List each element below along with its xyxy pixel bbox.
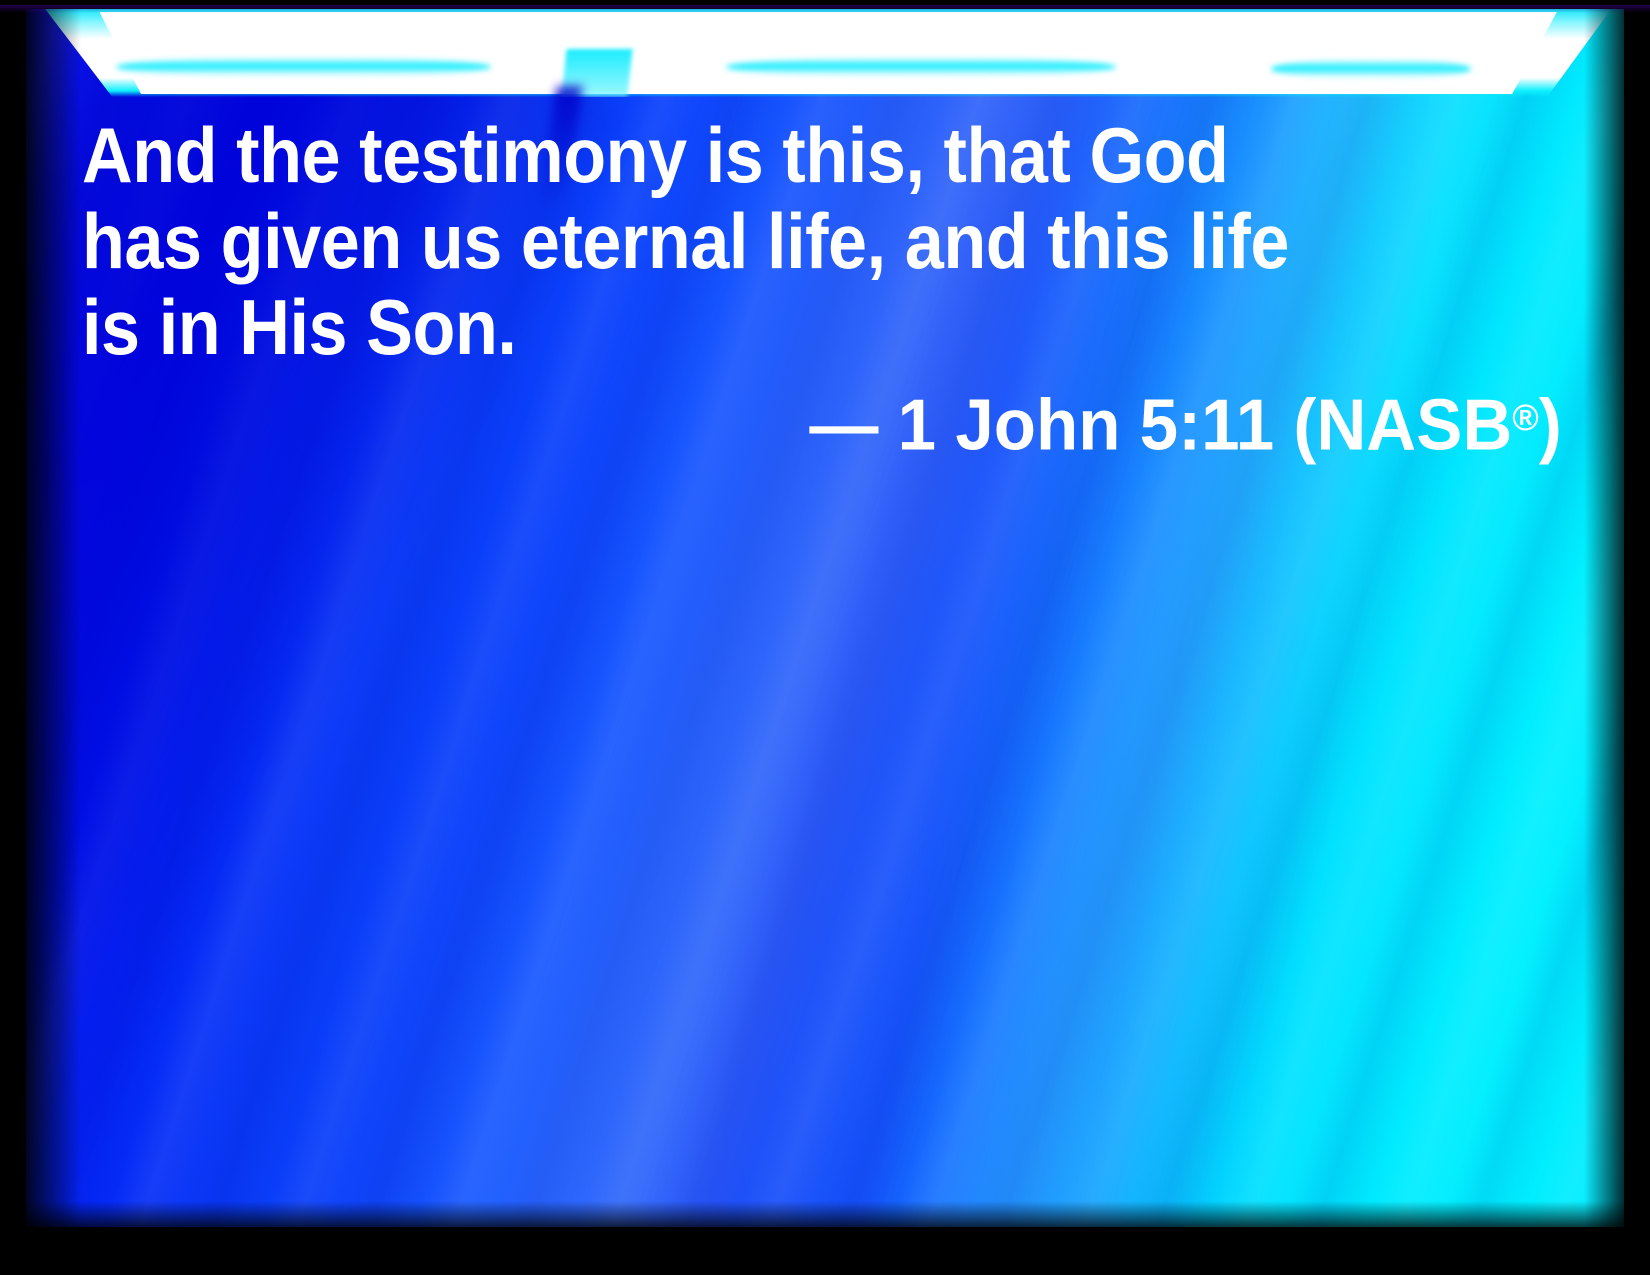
attribution-em-dash: —: [810, 385, 879, 465]
registered-trademark-icon: ®: [1513, 396, 1539, 438]
frame-soft-edge-bottom: [0, 1201, 1650, 1227]
frame-border-left: [0, 0, 26, 1275]
bible-verse-slide: And the testimony is this, that God has …: [0, 0, 1650, 1275]
frame-border-bottom: [0, 1227, 1650, 1275]
attribution-row: — 1 John 5:11 (NASB®): [82, 378, 1562, 464]
frame-purple-highlight-top: [0, 5, 1650, 13]
attribution-spacer: [879, 385, 898, 465]
banner-cyan-streak-center: [726, 57, 1116, 77]
verse-text-block: And the testimony is this, that God has …: [82, 112, 1502, 370]
banner-white-fill: [26, 12, 1624, 94]
verse-attribution: — 1 John 5:11 (NASB®): [810, 378, 1562, 464]
top-highlight-banner: [26, 9, 1624, 97]
attribution-reference: 1 John 5:11 (NASB: [898, 385, 1513, 465]
frame-soft-edge-right: [1584, 0, 1624, 1275]
attribution-closing-paren: ): [1539, 385, 1562, 465]
frame-soft-edge-left: [26, 0, 81, 1275]
frame-border-right: [1624, 0, 1650, 1275]
banner-cyan-streak-right: [1271, 59, 1471, 79]
verse-text: And the testimony is this, that God has …: [82, 112, 1360, 370]
banner-cyan-streak-left: [116, 57, 491, 77]
